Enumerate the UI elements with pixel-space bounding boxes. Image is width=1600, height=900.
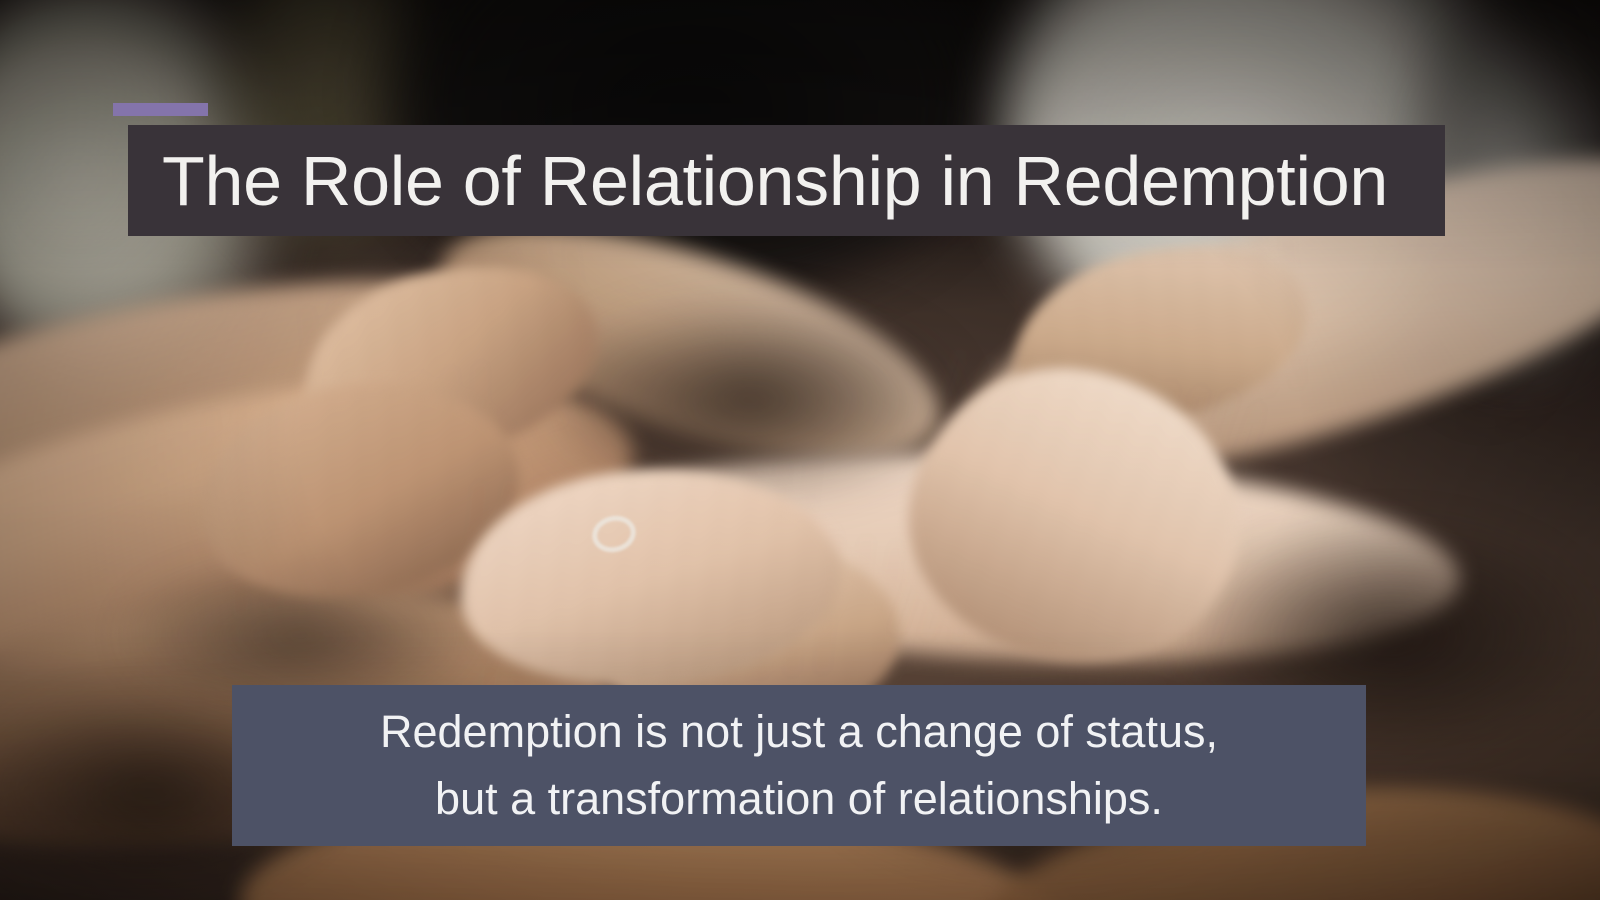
subtitle-line-2: but a transformation of relationships. (435, 766, 1163, 833)
title-accent-bar (113, 103, 208, 116)
subtitle-band: Redemption is not just a change of statu… (232, 685, 1366, 846)
slide-title: The Role of Relationship in Redemption (128, 146, 1388, 216)
presentation-slide: The Role of Relationship in Redemption R… (0, 0, 1600, 900)
subtitle-line-1: Redemption is not just a change of statu… (380, 699, 1218, 766)
title-band: The Role of Relationship in Redemption (128, 125, 1445, 236)
